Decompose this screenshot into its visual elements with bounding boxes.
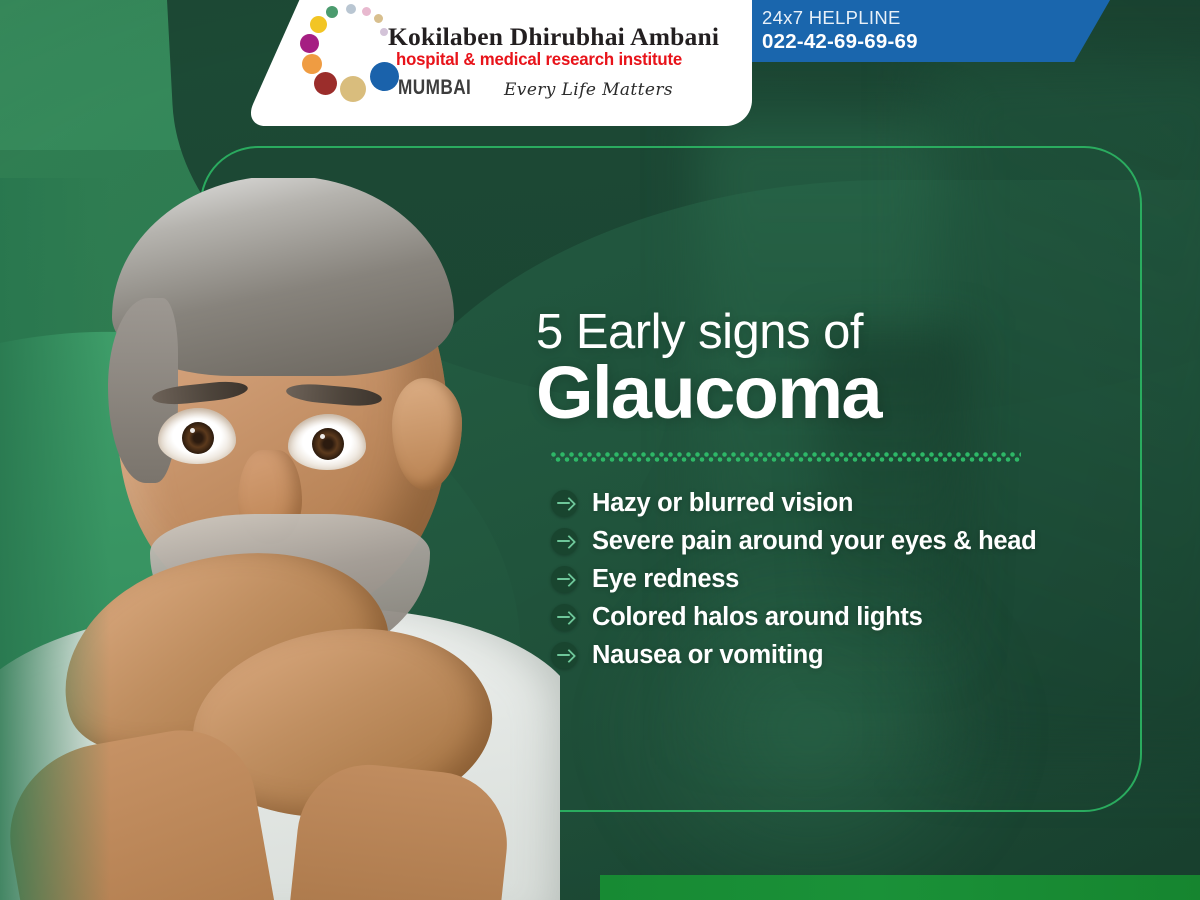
headline-block: 5 Early signs of Glaucoma [536, 308, 1096, 430]
symptom-label: Eye redness [592, 565, 739, 594]
symptom-item: Nausea or vomiting [551, 636, 1131, 674]
dot-tan-small [374, 14, 383, 23]
dot-blue-large [370, 62, 399, 91]
helpline-badge[interactable]: 24x7 HELPLINE 022-42-69-69-69 [690, 0, 1110, 62]
headline-line-2: Glaucoma [536, 356, 1096, 430]
symptom-label: Severe pain around your eyes & head [592, 527, 1036, 556]
symptom-list: Hazy or blurred visionSevere pain around… [551, 484, 1131, 674]
arrow-right-circle-icon [551, 528, 578, 555]
symptom-item: Eye redness [551, 560, 1131, 598]
dot-orange [302, 54, 322, 74]
arrow-right-circle-icon [551, 490, 578, 517]
dotted-divider [551, 452, 1021, 465]
photo-left-fade [0, 178, 110, 900]
arrow-right-circle-icon [551, 566, 578, 593]
bottom-accent-bar [600, 875, 1200, 900]
dot-pink [362, 7, 371, 16]
dot-magenta [300, 34, 319, 53]
helpline-number[interactable]: 022-42-69-69-69 [762, 29, 918, 56]
dot-lilac [380, 28, 388, 36]
brand-name: Kokilaben Dhirubhai Ambani [388, 22, 719, 52]
symptom-label: Nausea or vomiting [592, 641, 823, 670]
symptom-item: Severe pain around your eyes & head [551, 522, 1131, 560]
symptom-label: Colored halos around lights [592, 603, 923, 632]
brand-subtitle: hospital & medical research institute [396, 49, 682, 70]
hero-photo-elderly-man [0, 178, 560, 900]
dot-yellow [310, 16, 327, 33]
hospital-logo[interactable]: Kokilaben Dhirubhai Ambani hospital & me… [296, 4, 696, 116]
photo-iris-left [182, 422, 214, 454]
poster-canvas: Kokilaben Dhirubhai Ambani hospital & me… [0, 0, 1200, 900]
photo-pupil-highlight-right [320, 434, 325, 439]
helpline-label: 24x7 HELPLINE [762, 6, 918, 29]
logo-dot-spiral-icon [296, 4, 404, 108]
photo-iris-right [312, 428, 344, 460]
photo-ear [392, 378, 462, 490]
arrow-right-circle-icon [551, 604, 578, 631]
symptom-label: Hazy or blurred vision [592, 489, 853, 518]
symptom-item: Colored halos around lights [551, 598, 1131, 636]
dot-tan-large [340, 76, 366, 102]
brand-city: MUMBAI [398, 76, 471, 100]
dot-green-small [326, 6, 338, 18]
arrow-right-circle-icon [551, 642, 578, 669]
photo-pupil-highlight-left [190, 428, 195, 433]
dot-darkred [314, 72, 337, 95]
symptom-item: Hazy or blurred vision [551, 484, 1131, 522]
brand-tagline: Every Life Matters [504, 80, 673, 100]
dot-grayblue [346, 4, 356, 14]
